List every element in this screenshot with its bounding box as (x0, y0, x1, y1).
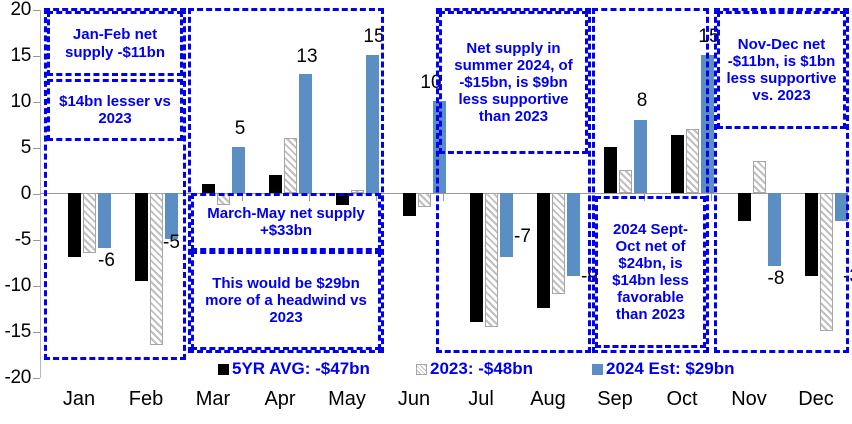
x-label-mar: Mar (178, 388, 248, 411)
tick-mark (33, 56, 40, 57)
y-tick-neg10: -10 (4, 275, 31, 297)
y-tick-20: 20 (10, 0, 31, 21)
x-label-jul: Jul (446, 388, 516, 411)
tick-mark (33, 332, 40, 333)
x-label-sep: Sep (580, 388, 650, 411)
tick-mark (33, 240, 40, 241)
x-label-oct: Oct (647, 388, 717, 411)
chart-legend: 5YR AVG: -$47bn 2023: -$48bn 2024 Est: $… (0, 357, 852, 381)
legend-label-2024-est: 2024 Est: $29bn (606, 359, 735, 379)
legend-item-5yr-avg[interactable]: 5YR AVG: -$47bn (218, 359, 370, 379)
legend-label-2023: 2023: -$48bn (430, 359, 533, 379)
tick-mark (33, 148, 40, 149)
bar-5yr-avg-jun (403, 193, 416, 216)
legend-item-2024-est[interactable]: 2024 Est: $29bn (592, 359, 735, 379)
y-tick-neg15: -15 (4, 321, 31, 343)
x-label-dec: Dec (781, 388, 851, 411)
annotation-nov-dec: Nov-Dec net -$11bn, is $1bn less support… (717, 11, 846, 129)
tick-mark (33, 102, 40, 103)
annotation-summer: Net supply in summer 2024, of -$15bn, is… (439, 11, 588, 154)
tick-mark (33, 10, 40, 11)
annotation-mar-may-net: March-May net supply +$33bn (191, 193, 381, 251)
tick-mark (33, 194, 40, 195)
x-label-aug: Aug (513, 388, 583, 411)
annotation-jan-feb-lesser: $14bn lesser vs 2023 (47, 79, 183, 141)
y-tick-neg5: -5 (15, 229, 31, 251)
bar-2023-jun (418, 193, 431, 207)
annotation-mar-may-headwind: This would be $29bn more of a headwind v… (191, 251, 381, 350)
x-label-nov: Nov (714, 388, 784, 411)
annotation-text: March-May net supply +$33bn (194, 204, 378, 240)
y-tick-10: 10 (10, 91, 31, 113)
legend-swatch-blue-icon (592, 364, 603, 375)
legend-swatch-black-icon (218, 364, 229, 375)
legend-item-2023[interactable]: 2023: -$48bn (416, 359, 533, 379)
x-label-feb: Feb (111, 388, 181, 411)
y-tick-0: 0 (21, 183, 31, 205)
annotation-text: This would be $29bn more of a headwind v… (194, 274, 378, 327)
annotation-text: Net supply in summer 2024, of -$15bn, is… (442, 39, 585, 126)
x-label-apr: Apr (245, 388, 315, 411)
y-tick-15: 15 (10, 45, 31, 67)
annotation-text: Jan-Feb net supply -$11bn (50, 25, 180, 61)
x-label-jan: Jan (44, 388, 114, 411)
annotation-text: 2024 Sept-Oct net of $24bn, is $14bn les… (598, 220, 703, 325)
x-label-may: May (312, 388, 382, 411)
annotation-text: Nov-Dec net -$11bn, is $1bn less support… (720, 35, 843, 105)
x-label-jun: Jun (379, 388, 449, 411)
annotation-sept-oct: 2024 Sept-Oct net of $24bn, is $14bn les… (595, 196, 706, 348)
tick-mark (33, 286, 40, 287)
legend-label-5yr-avg: 5YR AVG: -$47bn (232, 359, 370, 379)
annotation-text: $14bn lesser vs 2023 (50, 92, 180, 128)
y-tick-5: 5 (21, 137, 31, 159)
legend-swatch-hatch-icon (416, 364, 427, 375)
annotation-jan-feb-net: Jan-Feb net supply -$11bn (47, 11, 183, 76)
net-supply-bar-chart: 20 15 10 5 0 -5 -10 -15 -20 -6 (0, 0, 852, 424)
